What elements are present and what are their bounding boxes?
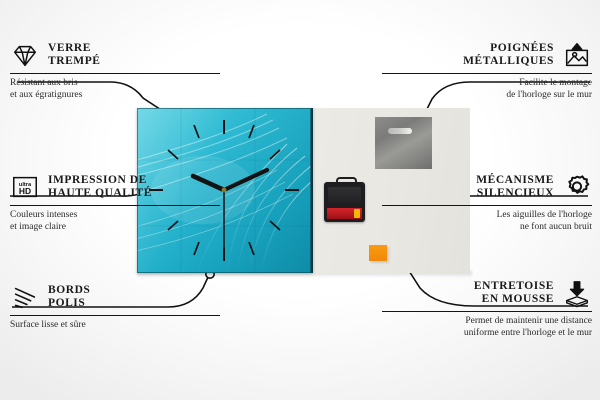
foam-spacer-icon (562, 278, 592, 308)
feature-entretoise-en-mousse: ENTRETOISE EN MOUSSE Permet de maintenir… (382, 278, 592, 339)
hanger-slot (388, 128, 412, 134)
feature-bords-polis: BORDS POLIS Surface lisse et sûre (10, 282, 220, 332)
feature-title: POIGNÉES MÉTALLIQUES (463, 42, 554, 69)
picture-hanger-icon (562, 40, 592, 70)
feature-desc-line1: Facilite le montage (382, 78, 592, 90)
feature-desc-line2: de l'horloge sur le mur (382, 90, 592, 102)
feature-title: VERRE TREMPÉ (48, 42, 101, 69)
feature-desc-line1: Couleurs intenses (10, 210, 220, 222)
feature-desc-line1: Les aiguilles de l'horloge (382, 210, 592, 222)
feature-heading: VERRE TREMPÉ (10, 40, 220, 70)
feature-title: ENTRETOISE EN MOUSSE (474, 280, 554, 307)
feature-heading: BORDS POLIS (10, 282, 220, 312)
feature-impression-haute-qualite: ultra HD IMPRESSION DE HAUTE QUALITÉ Cou… (10, 172, 220, 233)
diamond-icon (10, 40, 40, 70)
metal-hanger-plate (375, 117, 432, 169)
divider (382, 311, 592, 312)
svg-text:HD: HD (19, 186, 31, 196)
feature-heading: POIGNÉES MÉTALLIQUES (382, 40, 592, 70)
battery-terminal (354, 209, 360, 218)
feature-desc-line2: ne font aucun bruit (382, 222, 592, 234)
divider (382, 205, 592, 206)
divider (10, 205, 220, 206)
feature-mecanisme-silencieux: MÉCANISME SILENCIEUX Les aiguilles de l'… (382, 172, 592, 233)
feature-desc-line2: uniforme entre l'horloge et le mur (382, 328, 592, 340)
feature-title: MÉCANISME SILENCIEUX (476, 174, 554, 201)
feature-desc-line2: et image claire (10, 222, 220, 234)
feature-poignees-metalliques: POIGNÉES MÉTALLIQUES Facilite le montage… (382, 40, 592, 101)
polished-edges-icon (10, 282, 40, 312)
foam-spacer (369, 245, 387, 261)
divider (10, 73, 220, 74)
divider (10, 315, 220, 316)
gear-icon (562, 172, 592, 202)
feature-heading: ultra HD IMPRESSION DE HAUTE QUALITÉ (10, 172, 220, 202)
clock-mechanism (324, 182, 365, 222)
feature-verre-trempe: VERRE TREMPÉ Résistant aux bris et aux é… (10, 40, 220, 101)
battery (327, 208, 362, 219)
infographic-canvas: VERRE TREMPÉ Résistant aux bris et aux é… (0, 0, 600, 400)
mechanism-body (328, 187, 361, 203)
feature-desc-line1: Surface lisse et sûre (10, 320, 220, 332)
feature-desc-line1: Permet de maintenir une distance (382, 316, 592, 328)
feature-heading: ENTRETOISE EN MOUSSE (382, 278, 592, 308)
feature-title: IMPRESSION DE HAUTE QUALITÉ (48, 174, 152, 201)
feature-heading: MÉCANISME SILENCIEUX (382, 172, 592, 202)
feature-title: BORDS POLIS (48, 284, 90, 311)
feature-desc-line1: Résistant aux bris (10, 78, 220, 90)
feature-desc-line2: et aux égratignures (10, 90, 220, 102)
ultra-hd-icon: ultra HD (10, 172, 40, 202)
mechanism-hook (336, 177, 357, 185)
divider (382, 73, 592, 74)
